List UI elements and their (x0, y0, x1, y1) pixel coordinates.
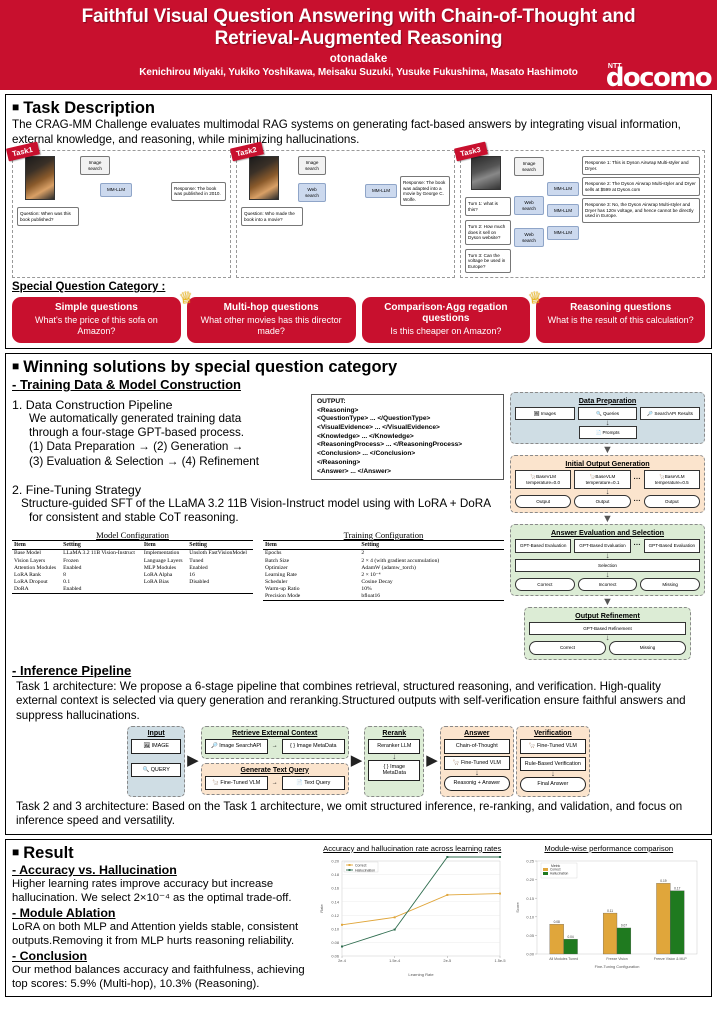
svg-text:0.10: 0.10 (331, 927, 339, 932)
stage-caption: Data Preparation (515, 396, 700, 405)
chip-output-0: Output (515, 495, 571, 508)
task3-node-image-search: Image search (514, 157, 544, 176)
category-card-multihop: ♕ Multi-hop questions What other movies … (187, 297, 356, 343)
pbox-image-metadata: { } Image MetaData (368, 760, 420, 781)
image-icon: 🖼 (534, 411, 540, 416)
team-name: otonadake (10, 53, 707, 65)
task3-node-web-search-2: Web search (514, 196, 544, 215)
output-line: <Answer> ... </Answer> (317, 468, 498, 477)
chip-correct: Correct (529, 641, 606, 654)
winning-solutions-section: ■Winning solutions by special question c… (5, 353, 712, 835)
pipeline-stage-rerank: Rerank Reranker LLM ↓ { } Image MetaData (364, 726, 424, 796)
dash-prefix: - (12, 949, 20, 963)
table-row: Learning Rate2 × 10⁻⁴ (263, 571, 504, 578)
col-header: Setting (359, 540, 504, 549)
stage-caption: Input (131, 730, 181, 737)
task-description-intro: The CRAG-MM Challenge evaluates multimod… (12, 118, 705, 147)
pbox-final-answer: Final Answer (520, 777, 586, 791)
category-example: Is this cheaper on Amazon? (366, 326, 527, 336)
result-sub-conclusion: - Conclusion (12, 949, 312, 963)
task1-node-image-search: Image search (80, 156, 110, 175)
training-config-caption: Training Configuration (263, 530, 504, 540)
table-row: Epochs2 (263, 549, 504, 557)
pbox-reasoning-answer: Reasonig + Answer (444, 776, 510, 790)
inference-pipeline-subheading: - Inference Pipeline (12, 663, 705, 678)
stage-caption: Answer (444, 730, 510, 737)
pipeline-stage-retrieve-external-context: Retrieve External Context 🔎 Image Search… (201, 726, 349, 758)
task-description-heading: ■Task Description (12, 99, 705, 117)
col-header: Item (263, 540, 359, 549)
docomo-logo: NTT docomo (606, 64, 711, 89)
image-icon: 🖼 (143, 743, 150, 749)
task2-response: Response: The book was adapted into a mo… (400, 176, 450, 206)
task1-question: Question: When was this book published? (17, 207, 79, 226)
chip-gpt-eval-0: GPT-Based Evaluation (515, 539, 571, 552)
task2-node-image-search: Image search (298, 156, 326, 175)
table-row: Base ModelLLaMA 3.2 11B Vision-InstructI… (12, 549, 253, 557)
output-line: <Reasoning> (317, 407, 498, 416)
module-performance-bar-chart: 0.000.050.100.150.200.250.080.04All Modu… (513, 853, 703, 978)
winning-solutions-heading: ■Winning solutions by special question c… (12, 358, 705, 376)
inference-task1-text: Task 1 architecture: We propose a 6-stag… (12, 680, 705, 723)
svg-text:0.16: 0.16 (331, 886, 339, 891)
ellipsis-label: ··· (634, 498, 641, 505)
result-body-ablation: LoRA on both MLP and Attention yields st… (12, 920, 312, 948)
item1-body-line1: We automatically generated training data (29, 412, 305, 426)
task3-response-2: Response 2: The Dyson Airwrap Multi-styl… (582, 177, 700, 196)
chip-gpt-eval-1: GPT-Based Evaluation (574, 539, 630, 552)
bar-chart-card: Module-wise performance comparison 0.000… (513, 844, 706, 991)
table-row: LoRA Dropout0.1LoRA BiasDisabled (12, 578, 253, 585)
chip-basevlm-0: 🦙BaseVLM temperature=0.0 (515, 470, 571, 489)
result-heading: ■Result (12, 844, 312, 862)
svg-text:Hallucination: Hallucination (550, 872, 568, 876)
dash-prefix: - (12, 377, 20, 392)
category-card-reasoning: ♕ Reasoning questions What is the result… (536, 297, 705, 343)
task2-diagram: Task2 Question: Who made the book into a… (236, 150, 455, 278)
title-line-2: Retrieval-Augmented Reasoning (215, 28, 503, 49)
table-row: Vision LayersFrozenLanguage LayersTuned (12, 557, 253, 564)
table-row: Batch Size2 × 4 (with gradient accumulat… (263, 557, 504, 564)
svg-text:0.04: 0.04 (567, 935, 573, 939)
pipeline-stage-verification: Verification 🦙 Fine-Tuned VLM Rule-Based… (516, 726, 590, 796)
arrow-down-icon: ▼ (510, 598, 705, 607)
model-config-caption: Model Configuration (12, 530, 253, 540)
task-description-section: ■Task Description The CRAG-MM Challenge … (5, 94, 712, 349)
task3-response-1: Response 1: This is Dyson Airwrap Multi-… (582, 156, 700, 175)
search-api-icon: 🔎 (647, 411, 653, 416)
item2-title: 2. Fine-Tuning Strategy (12, 483, 504, 497)
svg-text:Learning Rate: Learning Rate (408, 972, 434, 977)
search-api-icon: 🔎 (211, 743, 218, 749)
pbox-chain-of-thought: Chain-of-Thought (444, 739, 510, 753)
svg-text:0.08: 0.08 (331, 940, 339, 945)
stage-initial-output-generation: Initial Output Generation 🦙BaseVLM tempe… (510, 455, 705, 513)
category-example: What other movies has this director made… (191, 315, 352, 336)
table-row: LoRA Rank8LoRA Alpha16 (12, 571, 253, 578)
bar-chart-title: Module-wise performance comparison (513, 844, 706, 854)
dash-prefix: - (12, 906, 20, 920)
bullet-square-icon: ■ (12, 100, 19, 114)
task3-response-3: Response 3: No, the Dyson Airwrap Multi-… (582, 198, 700, 223)
crown-icon: ♕ (527, 287, 544, 309)
table-row: OptimizerAdamW (adamw_torch) (263, 564, 504, 571)
svg-text:0.20: 0.20 (526, 878, 534, 883)
bullet-square-icon: ■ (12, 359, 19, 373)
line-chart-title: Accuracy and hallucination rate across l… (316, 844, 509, 854)
stage-caption: Retrieve External Context (205, 730, 345, 737)
svg-text:0.07: 0.07 (620, 924, 626, 928)
pbox-text-query: 📄 Text Query (282, 776, 345, 790)
svg-text:All Modules Tuned: All Modules Tuned (549, 957, 578, 961)
special-question-category-label: Special Question Category : (12, 281, 705, 293)
task3-node-web-search-3: Web search (514, 228, 544, 247)
category-card-simple: Simple questions What's the price of thi… (12, 297, 181, 343)
inference-pipeline-diagram: Input 🖼 IMAGE 🔍 QUERY ▶ Retrieve Externa… (12, 726, 705, 796)
chip-images: 🖼 Images (515, 407, 575, 420)
task2-image-thumbnail (249, 156, 279, 200)
item2-body: Structure-guided SFT of the LLaMA 3.2 11… (29, 497, 504, 526)
output-line: OUTPUT: (317, 398, 498, 407)
chip-gpt-eval-2: GPT-Based Evaluation (644, 539, 700, 552)
svg-text:2e-5: 2e-5 (443, 958, 451, 963)
col-header: Setting (61, 540, 142, 549)
stage-caption: Initial Output Generation (515, 459, 700, 468)
arrow-right-icon: ▶ (187, 756, 199, 766)
item1-title: 1. Data Construction Pipeline (12, 398, 305, 412)
pbox-query: 🔍 QUERY (131, 763, 181, 777)
task1-diagram: Task1 Question: When was this book publi… (12, 150, 231, 278)
col-header: Item (142, 540, 187, 549)
col-header: Setting (187, 540, 253, 549)
training-configuration-table: Item Setting Epochs2 Batch Size2 × 4 (wi… (263, 540, 504, 601)
result-section: ■Result - Accuracy vs. Hallucination Hig… (5, 839, 712, 997)
training-configuration-table-wrap: Training Configuration Item Setting Epoc… (263, 530, 504, 601)
chip-output-1: Output (574, 495, 630, 508)
chip-missing: Missing (640, 578, 700, 591)
output-line: <QuestionType> ... </QuestionType> (317, 415, 498, 424)
line-chart-card: Accuracy and hallucination rate across l… (316, 844, 509, 991)
model-configuration-table: Item Setting Item Setting Base ModelLLaM… (12, 540, 253, 594)
output-line: <ReasoningProcess> ... </ReasoningProces… (317, 441, 498, 450)
model-configuration-table-wrap: Model Configuration Item Setting Item Se… (12, 530, 253, 601)
stage-caption: Verification (520, 730, 586, 737)
task2-node-mmllm: MM-LLM (365, 184, 397, 198)
ellipsis-label: ··· (634, 542, 641, 549)
llama-icon: 🦙 (453, 760, 460, 766)
json-icon: { } (383, 764, 388, 770)
chip-basevlm-1: 🦙BaseVLM temperature=0.1 (574, 470, 630, 489)
category-title: Reasoning questions (540, 302, 701, 313)
output-line: <VisualEvidence> ... </VisualEvidence> (317, 424, 498, 433)
training-data-subheading: - Training Data & Model Construction (12, 377, 705, 392)
task1-node-mmllm: MM-LLM (100, 183, 132, 197)
result-body-conclusion: Our method balances accuracy and faithfu… (12, 963, 312, 991)
task3-node-mmllm-1: MM-LLM (547, 182, 579, 196)
pbox-finetuned-vlm: 🦙 Fine-Tuned VLM (520, 739, 586, 753)
item1-body-line4: (3) Evaluation & Selection → (4) Refinem… (29, 455, 305, 469)
chip-correct: Correct (515, 578, 575, 591)
llama-icon: 🦙 (529, 743, 536, 749)
data-construction-pipeline-diagram: Data Preparation 🖼 Images 🔍 Queries 🔎 Se… (510, 392, 705, 660)
page-title: Faithful Visual Question Answering with … (10, 6, 707, 50)
category-card-comparison: Comparison·Agg regation questions Is thi… (362, 297, 531, 343)
svg-text:Score: Score (515, 902, 520, 913)
arrow-right-icon: → (272, 743, 278, 749)
stage-caption: Generate Text Query (205, 767, 345, 774)
stage-data-preparation: Data Preparation 🖼 Images 🔍 Queries 🔎 Se… (510, 392, 705, 445)
col-header: Item (12, 540, 61, 549)
poster-root: Faithful Visual Question Answering with … (0, 0, 717, 1024)
author-list: Kenichirou Miyaki, Yukiko Yoshikawa, Mei… (10, 67, 707, 78)
svg-text:Freeze Vision & MLP: Freeze Vision & MLP (653, 957, 686, 961)
svg-text:0.25: 0.25 (526, 859, 534, 864)
svg-text:1.5e-5: 1.5e-5 (494, 958, 505, 963)
task3-turn-1: Turn 1: what is this? (465, 197, 511, 216)
question-category-row: Simple questions What's the price of thi… (12, 297, 705, 343)
chip-output-2: Output (644, 495, 700, 508)
pbox-image: 🖼 IMAGE (131, 739, 181, 753)
task-diagrams-row: Task1 Question: When was this book publi… (12, 150, 705, 278)
category-example: What is the result of this calculation? (540, 315, 701, 325)
chip-basevlm-2: 🦙BaseVLM temperature=0.5 (644, 470, 700, 489)
table-row: SchedulerCosine Decay (263, 578, 504, 585)
task3-image-thumbnail (471, 156, 501, 190)
json-icon: { } (290, 743, 295, 749)
svg-text:0.08: 0.08 (553, 920, 559, 924)
arrow-down-icon: ▼ (510, 515, 705, 524)
svg-text:0.17: 0.17 (674, 887, 680, 891)
svg-text:0.00: 0.00 (526, 952, 534, 957)
category-title: Multi-hop questions (191, 302, 352, 313)
llama-icon: 🦙 (212, 780, 219, 786)
pbox-image-metadata: { } Image MetaData (282, 739, 345, 753)
poster-header: Faithful Visual Question Answering with … (0, 0, 717, 90)
pipeline-stage-generate-text-query: Generate Text Query 🦙 Fine-Tuned VLM → 📄… (201, 763, 349, 795)
ellipsis-label: ··· (634, 476, 641, 483)
output-line: <Knowledge> ... </Knowledge> (317, 433, 498, 442)
svg-text:Fine-Tuning Configuration: Fine-Tuning Configuration (594, 964, 639, 969)
task2-question: Question: Who made the book into a movie… (241, 207, 303, 226)
svg-text:0.20: 0.20 (331, 859, 339, 864)
stage-answer-evaluation-selection: Answer Evaluation and Selection GPT-Base… (510, 524, 705, 596)
arrow-right-icon: → (272, 780, 278, 786)
stage-caption: Rerank (368, 730, 420, 737)
arrow-down-icon: ▼ (510, 446, 705, 455)
dash-prefix: - (12, 663, 20, 678)
document-icon: 📄 (296, 780, 303, 786)
task1-response: Response: The book was published in 2010… (171, 182, 226, 201)
result-sub-accuracy: - Accuracy vs. Hallucination (12, 863, 312, 877)
svg-text:Freeze Vision: Freeze Vision (606, 957, 627, 961)
output-line: <Conclusion> ... </Conclusion> (317, 450, 498, 459)
svg-text:0.12: 0.12 (331, 913, 339, 918)
table-row: DoRAEnabled (12, 586, 253, 594)
table-row: Attention ModulesEnabledMLP ModulesEnabl… (12, 564, 253, 571)
task1-image-thumbnail (25, 156, 55, 200)
pbox-finetuned-vlm: 🦙 Fine-Tuned VLM (205, 776, 268, 790)
pipeline-stage-input: Input 🖼 IMAGE 🔍 QUERY (127, 726, 185, 796)
svg-text:0.10: 0.10 (526, 915, 534, 920)
output-format-box: OUTPUT: <Reasoning> <QuestionType> ... <… (311, 394, 504, 480)
task3-turn-3: Turn 3: Can the voltage be used in Europ… (465, 249, 511, 274)
chip-prompts: 📄 Prompts (579, 426, 637, 439)
arrow-right-icon: ▶ (351, 756, 363, 766)
stage-caption: Output Refinement (529, 611, 686, 620)
document-icon: 📄 (595, 430, 601, 435)
item1-body-line2: through a four-stage GPT-based process. (29, 426, 305, 440)
task3-node-mmllm-3: MM-LLM (547, 226, 579, 240)
table-row: Precision Modebfloat16 (263, 593, 504, 601)
pbox-image-searchapi: 🔎 Image SearchAPI (205, 739, 268, 753)
svg-text:2e-4: 2e-4 (338, 958, 347, 963)
arrow-right-icon: ▶ (426, 756, 438, 766)
item1-body-line3: (1) Data Preparation → (2) Generation → (29, 440, 305, 454)
task3-turn-2: Turn 2: How much does it sell on Dyson w… (465, 220, 511, 245)
svg-text:Correct: Correct (355, 864, 367, 868)
svg-text:1.5e-4: 1.5e-4 (389, 958, 401, 963)
stage-output-refinement: Output Refinement GPT-Based Refinement ↓… (524, 607, 691, 660)
svg-text:0.15: 0.15 (526, 896, 534, 901)
stage-caption: Answer Evaluation and Selection (515, 528, 700, 537)
title-line-1: Faithful Visual Question Answering with … (82, 6, 636, 27)
svg-text:0.14: 0.14 (331, 900, 339, 905)
docomo-logo-text: docomo (606, 63, 711, 93)
category-title: Comparison·Agg regation questions (366, 302, 527, 324)
task3-diagram: Task3 Turn 1: what is this? Turn 2: How … (460, 150, 705, 278)
table-row: Warm-up Ratio10% (263, 586, 504, 593)
result-sub-ablation: - Module Ablation (12, 906, 312, 920)
svg-text:Rate: Rate (319, 904, 324, 913)
crown-icon: ♕ (177, 287, 194, 309)
chip-searchapi-results: 🔎 SearchAPI Results (640, 407, 700, 420)
svg-text:0.19: 0.19 (660, 879, 666, 883)
svg-text:0.05: 0.05 (526, 933, 534, 938)
magnifier-stack-icon: 🔍 (596, 411, 602, 416)
chip-incorrect: Incorrect (578, 578, 638, 591)
inference-task23-text: Task 2 and 3 architecture: Based on the … (12, 800, 705, 829)
chip-missing: Missing (609, 641, 686, 654)
svg-text:0.11: 0.11 (607, 909, 613, 913)
category-example: What's the price of this sofa on Amazon? (16, 315, 177, 336)
search-icon: 🔍 (143, 767, 150, 773)
pipeline-stage-answer: Answer Chain-of-Thought 🦙 Fine-Tuned VLM… (440, 726, 514, 796)
output-line: </Reasoning> (317, 459, 498, 468)
category-title: Simple questions (16, 302, 177, 313)
svg-text:0.18: 0.18 (331, 873, 339, 878)
task3-node-mmllm-2: MM-LLM (547, 204, 579, 218)
bullet-square-icon: ■ (12, 845, 19, 859)
result-body-accuracy: Higher learning rates improve accuracy b… (12, 877, 312, 905)
accuracy-hallucination-line-chart: 0.060.080.100.120.140.160.180.202e-41.5e… (316, 853, 506, 978)
task2-node-web-search: Web search (298, 183, 326, 202)
